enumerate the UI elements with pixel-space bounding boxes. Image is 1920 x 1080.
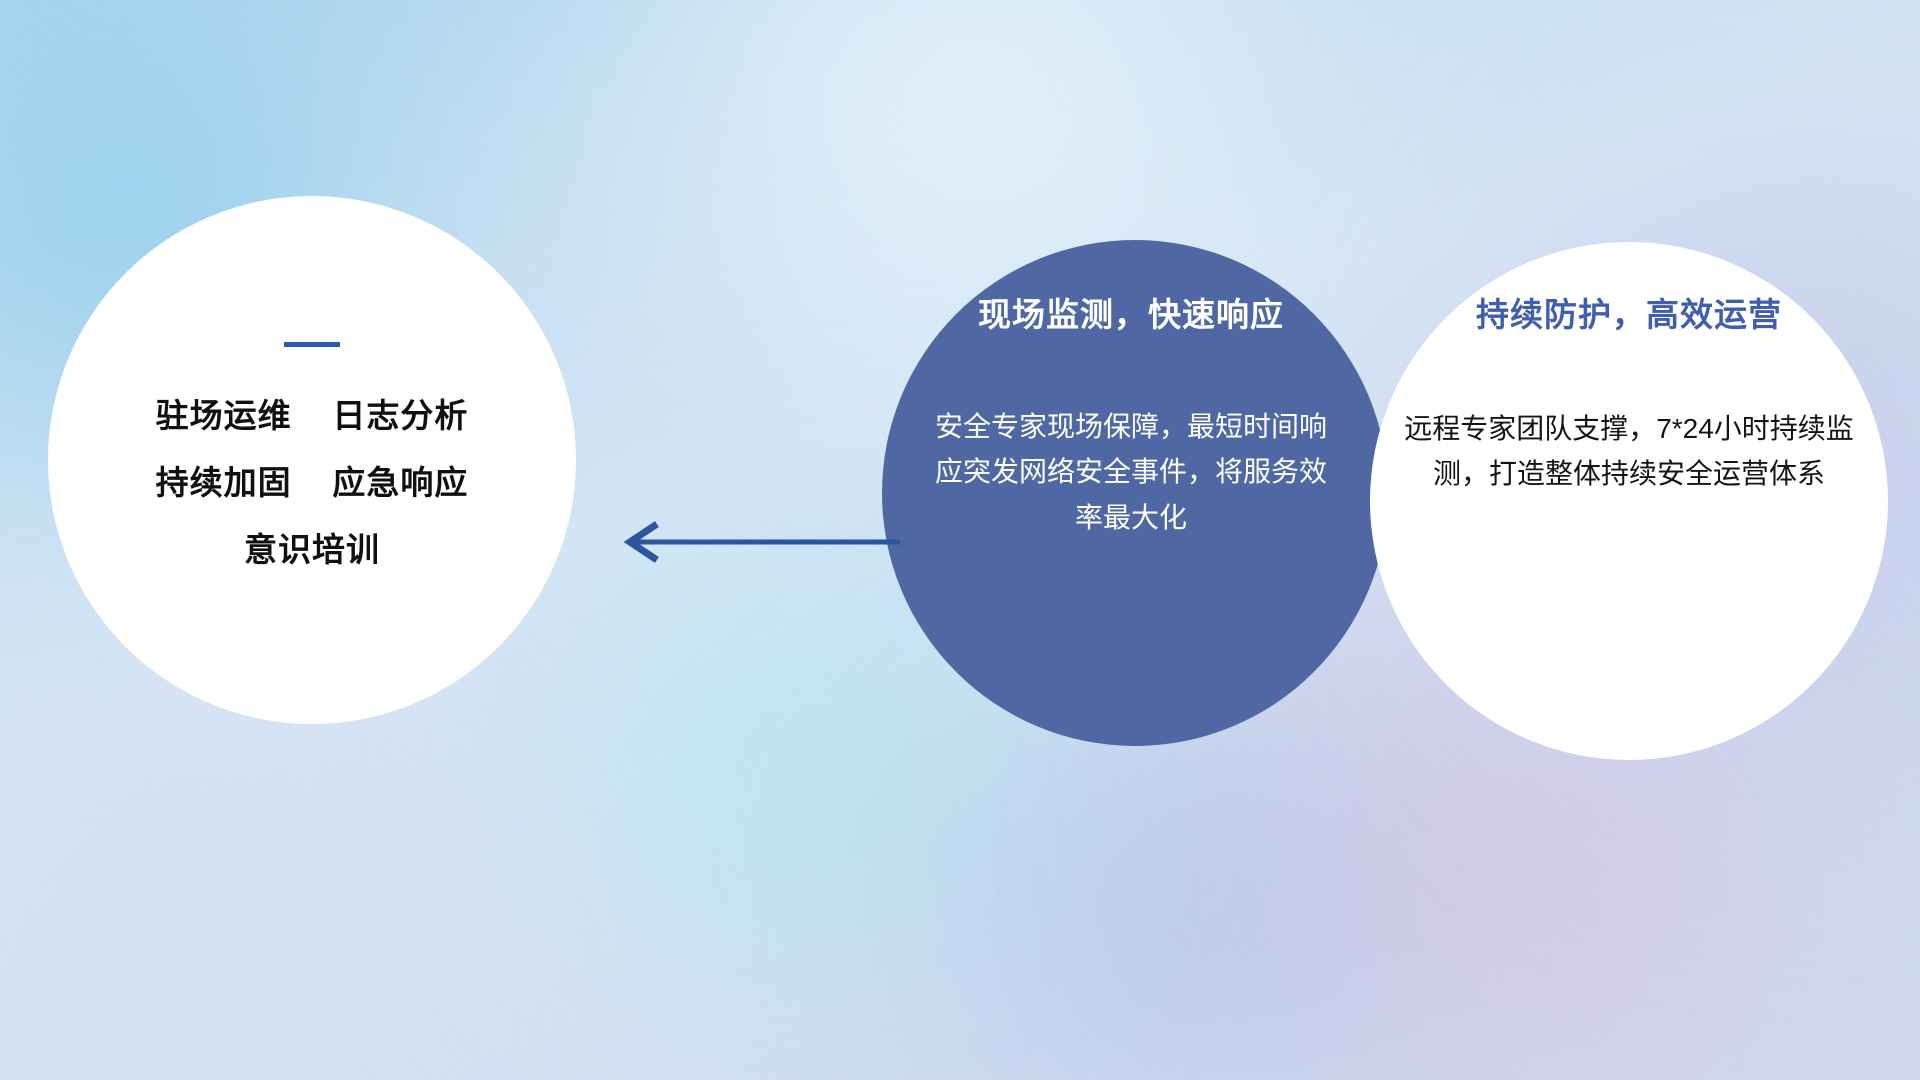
list-item: 意识培训 xyxy=(48,533,576,566)
list-item: 驻场运维 日志分析 xyxy=(48,399,576,432)
center-circle-content: 现场监测，快速响应 安全专家现场保障，最短时间响应突发网络安全事件，将服务效率最… xyxy=(864,288,1398,540)
right-circle-body: 远程专家团队支撑，7*24小时持续监测，打造整体持续安全运营体系 xyxy=(1392,406,1866,497)
right-circle-content: 持续防护，高效运营 远程专家团队支撑，7*24小时持续监测，打造整体持续安全运营… xyxy=(1370,288,1888,497)
left-circle-content: 驻场运维 日志分析 持续加固 应急响应 意识培训 xyxy=(48,342,576,566)
list-item: 持续加固 应急响应 xyxy=(48,466,576,499)
slide-canvas: 现场监测，快速响应 安全专家现场保障，最短时间响应突发网络安全事件，将服务效率最… xyxy=(0,0,1920,1080)
left-circle-card[interactable]: 驻场运维 日志分析 持续加固 应急响应 意识培训 xyxy=(48,196,576,724)
right-circle-title: 持续防护，高效运营 xyxy=(1392,288,1866,336)
center-circle-card[interactable]: 现场监测，快速响应 安全专家现场保障，最短时间响应突发网络安全事件，将服务效率最… xyxy=(882,240,1388,746)
center-circle-title: 现场监测，快速响应 xyxy=(890,288,1372,336)
accent-dash-icon xyxy=(284,342,340,347)
left-circle-tag-list: 驻场运维 日志分析 持续加固 应急响应 意识培训 xyxy=(48,399,576,566)
center-circle-body: 安全专家现场保障，最短时间响应突发网络安全事件，将服务效率最大化 xyxy=(890,404,1372,540)
flow-arrow-icon xyxy=(610,520,900,564)
right-circle-card[interactable]: 持续防护，高效运营 远程专家团队支撑，7*24小时持续监测，打造整体持续安全运营… xyxy=(1370,242,1888,760)
